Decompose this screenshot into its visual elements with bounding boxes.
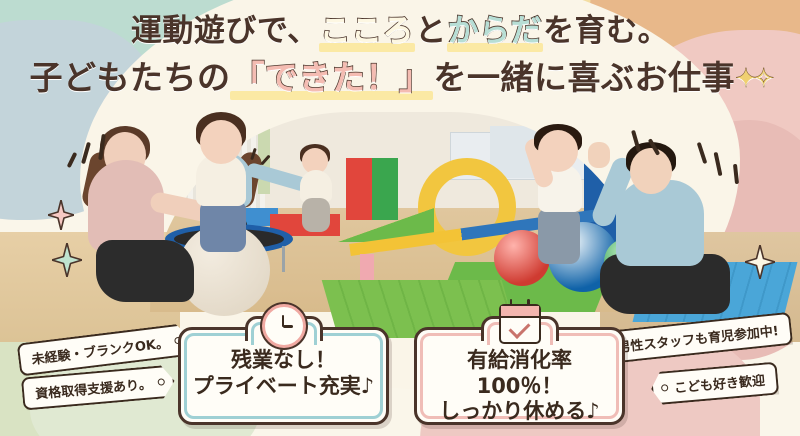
clock-icon: [262, 304, 306, 348]
child-center-legs: [302, 198, 330, 232]
headline-seg-karada: からだ: [447, 8, 544, 54]
headline-seg-to: と: [415, 13, 447, 49]
motion-lines-center: [250, 148, 276, 172]
bubble-line-2: プライベート充実♪: [191, 374, 376, 400]
poster-canvas: 運動遊びで、こころとからだを育む。 子どもたちの「できた！」を一緒に喜ぶお仕事✦…: [0, 0, 800, 436]
headline-seg-kodomotachi: 子どもたちの: [29, 58, 230, 97]
page-title: 運動遊びで、こころとからだを育む。 子どもたちの「できた！」を一緒に喜ぶお仕事✦…: [0, 8, 800, 103]
circle-icon: [157, 378, 165, 386]
headline-seg-hagukumu: を育む。: [543, 13, 669, 49]
headline-seg-1: 運動遊びで、: [131, 13, 319, 49]
motion-lines-boy: [630, 128, 676, 168]
foam-block-green: [372, 158, 398, 220]
headline-seg-oshigoto: を一緒に喜ぶお仕事: [433, 58, 735, 97]
child-right-legs: [538, 208, 580, 264]
benefit-bubble-no-overtime[interactable]: 残業なし！ プライベート充実♪: [178, 327, 389, 425]
sparkle-icon-green: [52, 243, 82, 277]
sparkle-icon-cream-right: [745, 245, 775, 279]
bubble-line-1: 残業なし！: [191, 348, 376, 374]
staff-right-body: [616, 180, 704, 266]
headline-seg-dekita: 「できた！」: [230, 54, 433, 102]
bubble-text: 有給消化率100％！ しっかり休める♪: [417, 330, 622, 435]
hero-photo: [0, 112, 800, 342]
motion-lines-left: [70, 128, 120, 168]
child-left-head: [200, 120, 242, 164]
staff-right-hand: [588, 142, 610, 168]
headline-line-1: 運動遊びで、こころとからだを育む。: [0, 8, 800, 54]
motion-lines-right: [700, 140, 756, 184]
sparkle-icon-headline: ✦✧: [735, 55, 771, 103]
foam-block-red: [346, 158, 372, 220]
headline-seg-kokoro: こころ: [319, 8, 416, 54]
bubble-line-1: 有給消化率100％！: [427, 348, 612, 399]
circle-icon: [661, 384, 669, 392]
bubble-line-2: しっかり休める♪: [427, 399, 612, 425]
beam-support-left: [360, 254, 374, 282]
calendar-check-icon: [499, 304, 541, 344]
headline-line-2: 子どもたちの「できた！」を一緒に喜ぶお仕事✦✧: [0, 54, 800, 103]
sparkle-icon-pink: [48, 200, 74, 230]
child-left-legs: [200, 200, 246, 252]
staff-left-legs: [96, 240, 194, 302]
tag-label: こども好き歓迎: [673, 370, 765, 397]
child-right-head: [538, 130, 578, 172]
benefit-bubble-paid-leave[interactable]: 有給消化率100％！ しっかり休める♪: [414, 327, 625, 425]
tag-label: 資格取得支援あり。: [34, 373, 152, 402]
